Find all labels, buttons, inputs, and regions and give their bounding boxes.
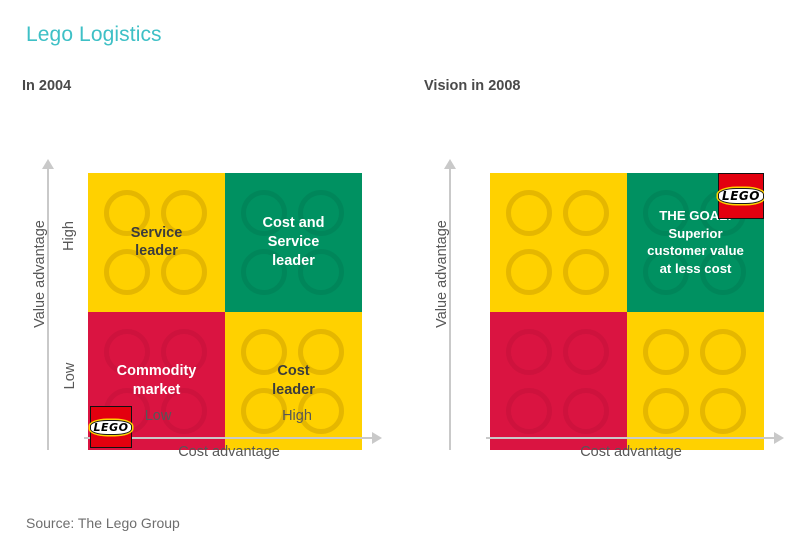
lego-logo-icon: LEGO [90, 406, 132, 448]
quadrant-label-service-leader: Service leader [125, 224, 189, 261]
y-axis-title-right: Value advantage [434, 184, 450, 364]
x-tick-high-left: High [227, 408, 367, 424]
quadrant-cost-and-service-leader[interactable]: Cost and Service leader [225, 173, 362, 312]
quadrant-grid-right: THE GOAL: Superior customer value at les… [490, 173, 764, 450]
matrix-right: Value advantage THE GOAL: Superior custo… [424, 106, 784, 496]
source-note: Source: The Lego Group [26, 515, 180, 531]
y-tick-low-left: Low [62, 346, 78, 406]
quadrant-service-leader[interactable]: Service leader [88, 173, 225, 312]
quadrant-the-goal[interactable]: THE GOAL: Superior customer value at les… [627, 173, 764, 312]
lego-studs-icon [490, 173, 627, 312]
quadrant-commodity-market[interactable]: Commodity market LEGO [88, 312, 225, 451]
quadrant-label-cost-and-service-leader: Cost and Service leader [256, 214, 330, 270]
quadrant-bottom-right-right-panel[interactable] [627, 312, 764, 451]
panel-heading-left: In 2004 [22, 78, 71, 94]
quadrant-label-commodity-market: Commodity market [111, 362, 203, 399]
x-axis-line [486, 437, 776, 439]
panel-heading-right: Vision in 2008 [424, 78, 520, 94]
lego-logo-text: LEGO [718, 188, 764, 204]
x-axis-arrow-icon [372, 432, 382, 444]
page-title: Lego Logistics [26, 23, 162, 47]
lego-studs-icon [627, 312, 764, 451]
x-axis-arrow-icon [774, 432, 784, 444]
quadrant-bottom-left-right-panel[interactable] [490, 312, 627, 451]
y-tick-high-left: High [61, 206, 77, 266]
x-axis-title-right: Cost advantage [486, 444, 776, 460]
quadrant-label-cost-leader: Cost leader [266, 362, 321, 399]
matrix-left: Value advantage High Low Service leader … [22, 106, 382, 496]
y-axis-title-left: Value advantage [32, 184, 48, 364]
quadrant-top-left-right-panel[interactable] [490, 173, 627, 312]
lego-logo-icon: LEGO [718, 173, 764, 219]
quadrant-cost-leader[interactable]: Cost leader [225, 312, 362, 451]
lego-studs-icon [490, 312, 627, 451]
lego-logo-text: LEGO [90, 420, 133, 435]
